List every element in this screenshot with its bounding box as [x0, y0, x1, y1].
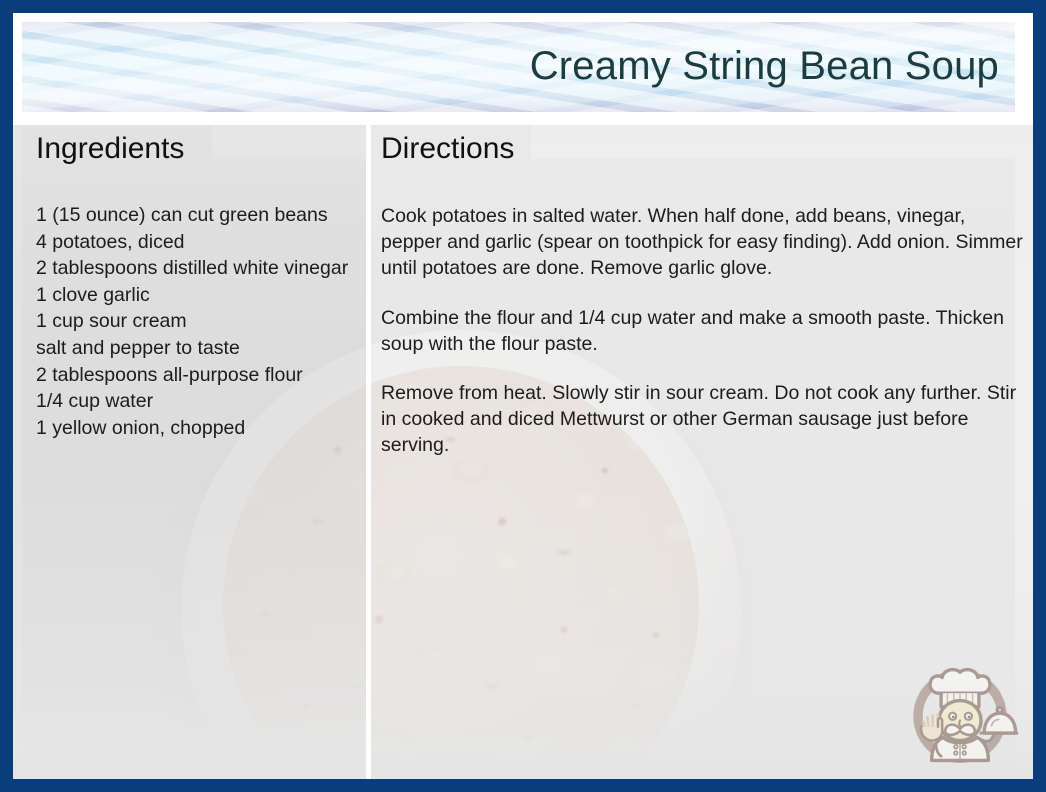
- direction-step: Combine the flour and 1/4 cup water and …: [381, 305, 1026, 357]
- direction-step: Cook potatoes in salted water. When half…: [381, 203, 1026, 282]
- list-item: 4 potatoes, diced: [36, 229, 361, 256]
- directions-steps: Cook potatoes in salted water. When half…: [381, 203, 1026, 459]
- list-item: salt and pepper to taste: [36, 335, 361, 362]
- list-item: 2 tablespoons distilled white vinegar: [36, 255, 361, 282]
- directions-heading: Directions: [381, 127, 514, 171]
- list-item: 1 (15 ounce) can cut green beans: [36, 202, 361, 229]
- list-item: 2 tablespoons all-purpose flour: [36, 362, 361, 389]
- recipe-card: Creamy String Bean Soup: [0, 0, 1046, 792]
- content-panels: Ingredients Directions 1 (15 ounce) can …: [13, 125, 1033, 779]
- recipe-card-inner: Creamy String Bean Soup: [13, 13, 1033, 779]
- list-item: 1 clove garlic: [36, 282, 361, 309]
- page-title: Creamy String Bean Soup: [530, 44, 999, 88]
- panel-divider: [366, 125, 371, 779]
- list-item: 1 yellow onion, chopped: [36, 415, 361, 442]
- ingredients-list: 1 (15 ounce) can cut green beans 4 potat…: [36, 202, 361, 441]
- title-banner: Creamy String Bean Soup: [22, 22, 1015, 112]
- list-item: 1 cup sour cream: [36, 308, 361, 335]
- ingredients-heading: Ingredients: [36, 127, 184, 171]
- chef-mascot-logo: [897, 647, 1023, 773]
- list-item: 1/4 cup water: [36, 388, 361, 415]
- direction-step: Remove from heat. Slowly stir in sour cr…: [381, 380, 1026, 459]
